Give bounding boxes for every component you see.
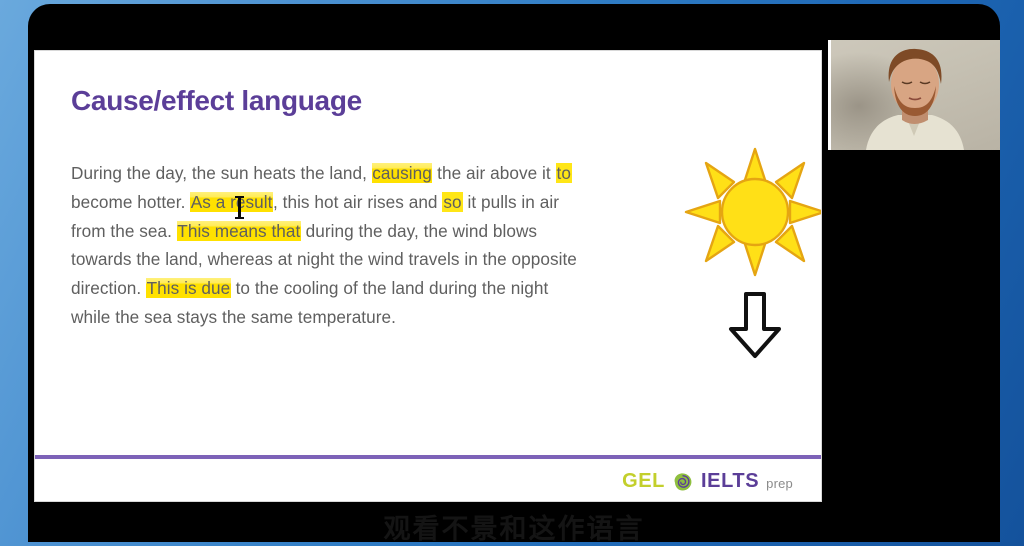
webcam-video-overlay[interactable] (828, 40, 1000, 150)
down-arrow-icon (719, 289, 791, 361)
slide-divider-rule (35, 455, 821, 459)
slide-body-text: During the day, the sun heats the land, … (71, 159, 591, 332)
webcam-presenter (828, 40, 1000, 150)
logo-prep-text: prep (766, 476, 793, 493)
logo-gel-text: GEL (622, 470, 665, 493)
logo-ielts-text: IELTS (701, 470, 759, 493)
presentation-slide: Cause/effect language During the day, th… (34, 50, 822, 502)
highlighted-phrase: This means that (177, 221, 301, 241)
body-text-run: , this hot air rises and (273, 192, 442, 212)
video-player-frame[interactable]: Cause/effect language During the day, th… (28, 4, 1000, 542)
bottom-caption-text: 观看不景和这作语言 (28, 507, 1000, 542)
spiral-rose-icon (672, 471, 694, 493)
sun-icon (680, 147, 822, 277)
body-text-run: During the day, the sun heats the land, (71, 163, 372, 183)
page-title: Cause/effect language (71, 85, 362, 117)
highlighted-phrase: to (556, 163, 572, 183)
brand-logo: GEL IELTS prep (622, 470, 793, 493)
highlighted-phrase: This is due (146, 278, 231, 298)
highlighted-phrase: causing (372, 163, 433, 183)
text-cursor-caret (238, 198, 241, 217)
highlighted-phrase: so (442, 192, 462, 212)
highlighted-phrase: As a result (190, 192, 273, 212)
screen-root: Cause/effect language During the day, th… (0, 0, 1024, 546)
body-text-run: become hotter. (71, 192, 190, 212)
webcam-border (828, 40, 831, 150)
body-text-run: the air above it (432, 163, 555, 183)
